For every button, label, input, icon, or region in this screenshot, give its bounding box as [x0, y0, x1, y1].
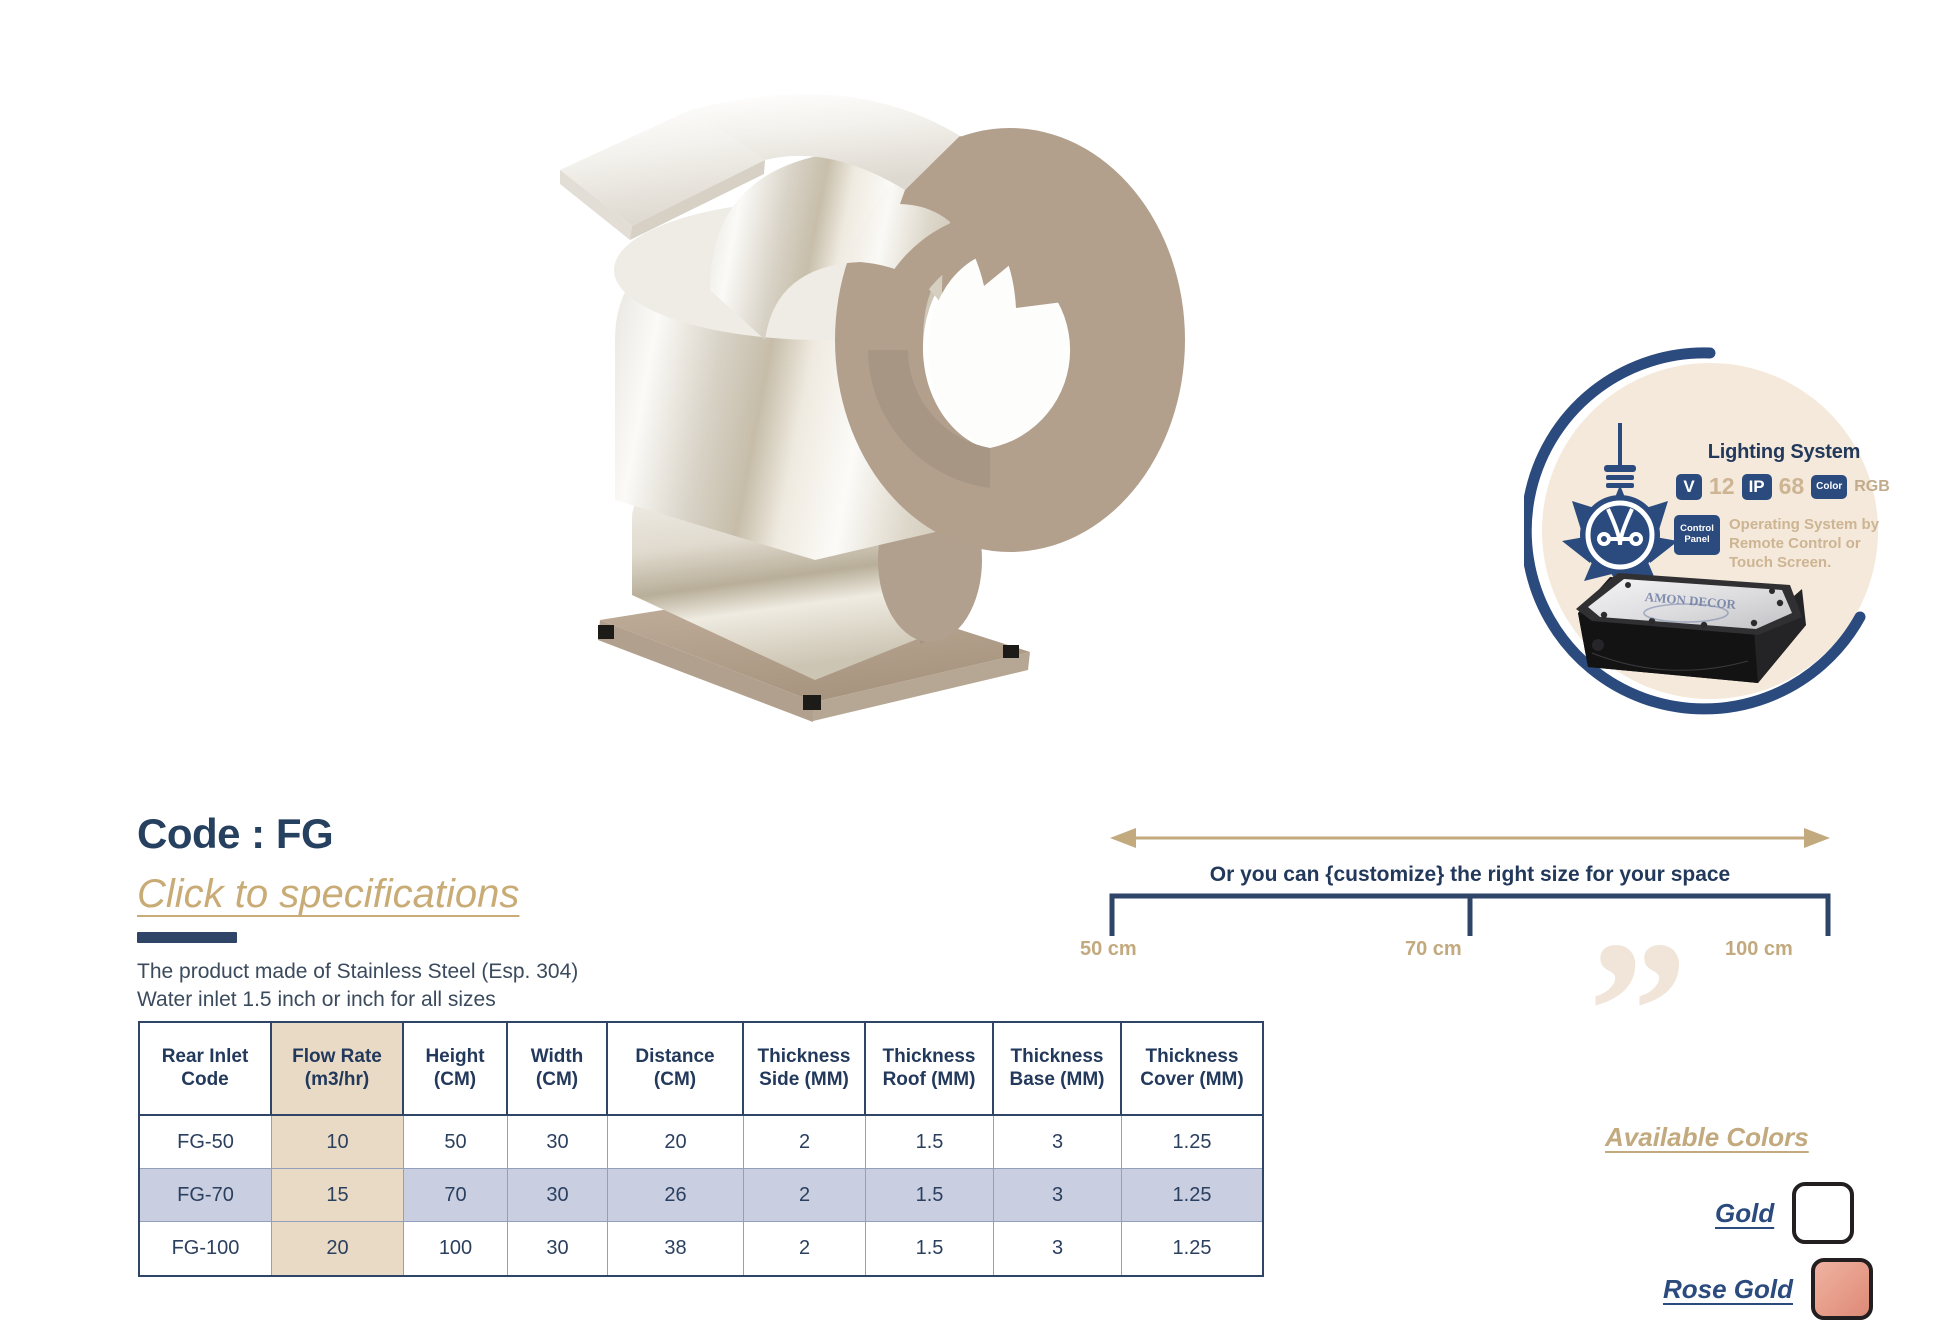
product-code-title: Code : FG	[137, 810, 333, 858]
color-label-rose-gold[interactable]: Rose Gold	[1663, 1274, 1793, 1305]
cell-th-base: 3	[994, 1169, 1122, 1222]
color-chip: Color	[1811, 475, 1847, 499]
color-option-rose-gold[interactable]: Rose Gold	[1663, 1258, 1873, 1320]
available-colors-title: Available Colors	[1605, 1122, 1809, 1153]
cell-th-base: 3	[994, 1116, 1122, 1169]
cell-flow: 20	[272, 1222, 404, 1275]
cell-code: FG-100	[140, 1222, 272, 1275]
product-image	[560, 40, 1300, 870]
voltage-chip: V	[1676, 474, 1702, 500]
voltage-value: 12	[1709, 473, 1735, 500]
spiral-fountain-illustration	[560, 40, 1300, 870]
cell-distance: 38	[608, 1222, 744, 1275]
cell-height: 70	[404, 1169, 508, 1222]
color-value: RGB	[1854, 478, 1890, 496]
table-header-row: Rear Inlet Code Flow Rate (m3/hr) Height…	[140, 1023, 1262, 1116]
cell-th-side: 2	[744, 1169, 866, 1222]
header-distance: Distance (CM)	[608, 1023, 744, 1116]
description-line-2: Water inlet 1.5 inch or inch for all siz…	[137, 986, 657, 1014]
cell-height: 50	[404, 1116, 508, 1169]
size-scale-bracket	[1108, 890, 1832, 938]
cell-width: 30	[508, 1116, 608, 1169]
cell-width: 30	[508, 1169, 608, 1222]
cell-th-side: 2	[744, 1116, 866, 1169]
cell-th-roof: 1.5	[866, 1222, 994, 1275]
cell-distance: 20	[608, 1116, 744, 1169]
cell-flow: 10	[272, 1116, 404, 1169]
cell-th-roof: 1.5	[866, 1116, 994, 1169]
specifications-link[interactable]: Click to specifications	[137, 872, 519, 917]
table-row: FG-50 10 50 30 20 2 1.5 3 1.25	[140, 1116, 1262, 1169]
customize-size-caption: Or you can {customize} the right size fo…	[1110, 863, 1830, 887]
header-thickness-base: Thickness Base (MM)	[994, 1023, 1122, 1116]
header-thickness-cover: Thickness Cover (MM)	[1122, 1023, 1262, 1116]
header-width: Width (CM)	[508, 1023, 608, 1116]
lightbulb-icon	[1560, 423, 1680, 588]
description-line-1: The product made of Stainless Steel (Esp…	[137, 958, 657, 986]
product-description: The product made of Stainless Steel (Esp…	[137, 958, 657, 1015]
cell-th-roof: 1.5	[866, 1169, 994, 1222]
cell-code: FG-70	[140, 1169, 272, 1222]
color-option-gold[interactable]: Gold	[1715, 1182, 1854, 1244]
specifications-table: Rear Inlet Code Flow Rate (m3/hr) Height…	[138, 1021, 1264, 1277]
scale-tick-70cm: 70 cm	[1405, 938, 1462, 961]
lighting-spec-row: V 12 IP 68 Color RGB	[1676, 473, 1890, 500]
control-panel-chip: Control Panel	[1674, 515, 1720, 555]
title-accent-bar	[137, 932, 237, 943]
ip-chip: IP	[1742, 474, 1772, 500]
cell-height: 100	[404, 1222, 508, 1275]
lighting-title: Lighting System	[1684, 441, 1884, 464]
product-spec-page: Code : FG Click to specifications The pr…	[0, 0, 1946, 1334]
scale-tick-100cm: 100 cm	[1725, 938, 1793, 961]
table-row: FG-70 15 70 30 26 2 1.5 3 1.25	[140, 1169, 1262, 1222]
header-thickness-side: Thickness Side (MM)	[744, 1023, 866, 1116]
cell-th-side: 2	[744, 1222, 866, 1275]
header-height: Height (CM)	[404, 1023, 508, 1116]
color-label-gold[interactable]: Gold	[1715, 1198, 1774, 1229]
control-panel-chip-line2: Panel	[1684, 535, 1709, 546]
cell-th-cover: 1.25	[1122, 1116, 1262, 1169]
table-row: FG-100 20 100 30 38 2 1.5 3 1.25	[140, 1222, 1262, 1275]
decorative-quote-icon: ”	[1588, 950, 1688, 1074]
size-scale-labels: 50 cm 70 cm 100 cm	[1060, 938, 1880, 968]
header-flow-rate: Flow Rate (m3/hr)	[272, 1023, 404, 1116]
panel-text-line-1: Operating System by	[1729, 515, 1879, 534]
cell-th-base: 3	[994, 1222, 1122, 1275]
scale-tick-50cm: 50 cm	[1080, 938, 1137, 961]
color-swatch-gold[interactable]	[1792, 1182, 1854, 1244]
cell-width: 30	[508, 1222, 608, 1275]
cell-th-cover: 1.25	[1122, 1169, 1262, 1222]
cell-flow: 15	[272, 1169, 404, 1222]
control-panel-text: Operating System by Remote Control or To…	[1729, 515, 1879, 573]
panel-text-line-2: Remote Control or	[1729, 534, 1879, 553]
control-panel-device-image: AMON DECOR	[1558, 565, 1828, 690]
color-swatch-rose-gold[interactable]	[1811, 1258, 1873, 1320]
size-range-arrow	[1110, 820, 1830, 856]
ip-value: 68	[1779, 473, 1805, 500]
cell-th-cover: 1.25	[1122, 1222, 1262, 1275]
cell-code: FG-50	[140, 1116, 272, 1169]
control-panel-row: Control Panel Operating System by Remote…	[1674, 515, 1879, 573]
header-thickness-roof: Thickness Roof (MM)	[866, 1023, 994, 1116]
cell-distance: 26	[608, 1169, 744, 1222]
header-rear-inlet-code: Rear Inlet Code	[140, 1023, 272, 1116]
